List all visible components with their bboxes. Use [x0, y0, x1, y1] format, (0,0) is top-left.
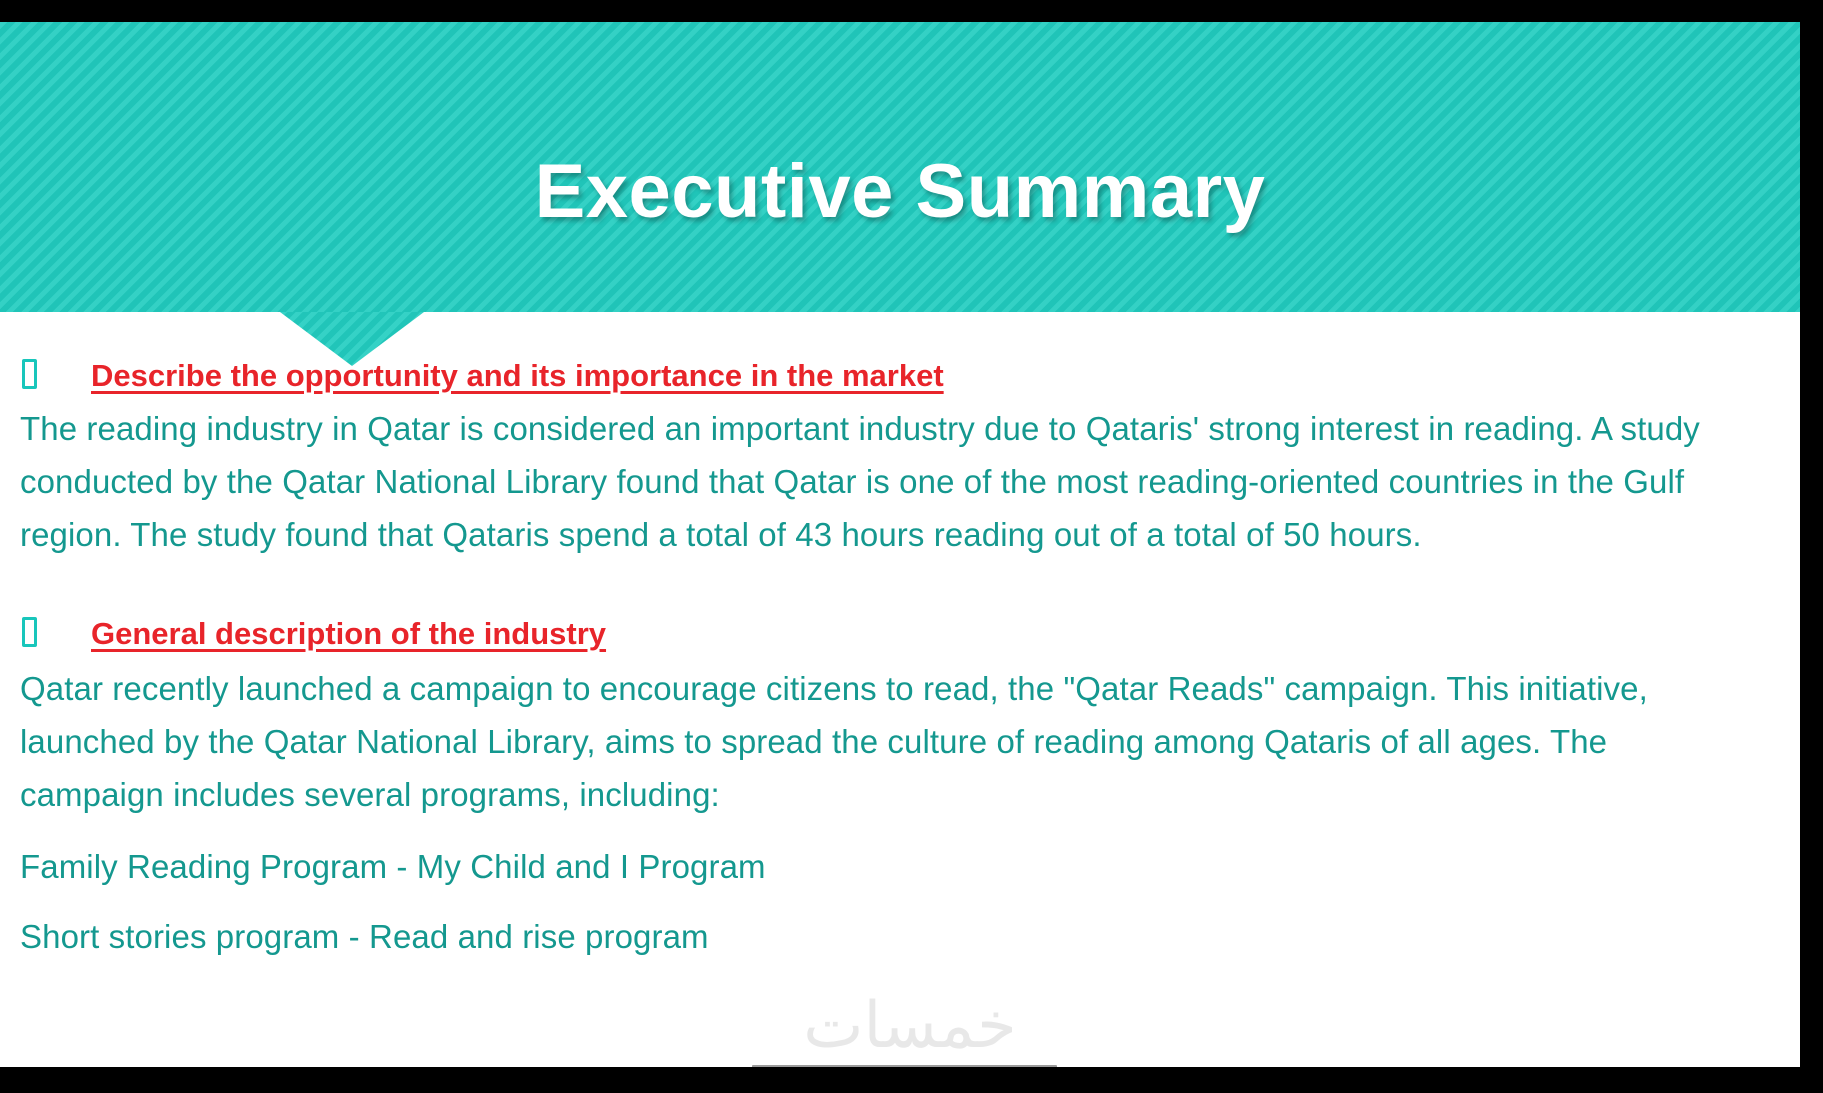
- section-heading-1: Describe the opportunity and its importa…: [22, 356, 944, 394]
- program-line-1: Family Reading Program - My Child and I …: [20, 840, 1620, 893]
- watermark-text: خمسات: [760, 994, 1060, 1058]
- page-title: Executive Summary: [0, 154, 1800, 230]
- slide-canvas: Executive Summary Describe the opportuni…: [0, 22, 1800, 1067]
- watermark-bar: [752, 1065, 1057, 1067]
- section-paragraph-2: Qatar recently launched a campaign to en…: [20, 662, 1740, 821]
- section-heading-2-label: General description of the industry: [91, 616, 606, 652]
- section-paragraph-1: The reading industry in Qatar is conside…: [20, 402, 1780, 561]
- slide-root: Executive Summary Describe the opportuni…: [0, 0, 1823, 1093]
- slide-body: Describe the opportunity and its importa…: [0, 312, 1800, 1067]
- section-heading-2: General description of the industry: [22, 614, 606, 652]
- program-line-2: Short stories program - Read and rise pr…: [20, 910, 1620, 963]
- bullet-box-glyph-icon: [22, 359, 37, 389]
- section-heading-1-label: Describe the opportunity and its importa…: [91, 358, 944, 394]
- bullet-box-glyph-icon: [22, 617, 37, 647]
